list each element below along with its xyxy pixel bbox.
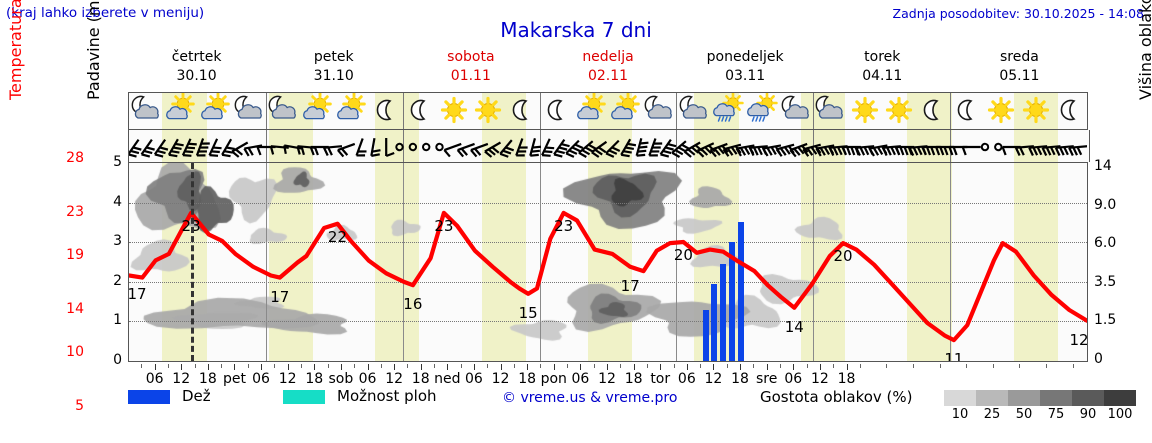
time-tick-minor bbox=[248, 364, 249, 368]
showers-legend-swatch bbox=[283, 390, 325, 404]
moon-cloud-icon bbox=[266, 93, 300, 129]
day-name: petek bbox=[265, 48, 402, 67]
time-tick-minor bbox=[567, 364, 568, 368]
time-tick-minor bbox=[674, 364, 675, 368]
time-tick-minor bbox=[141, 364, 142, 368]
wind-barb bbox=[357, 139, 371, 159]
time-tick bbox=[341, 364, 342, 370]
moon-icon bbox=[1053, 93, 1087, 129]
time-tick-label: 06 bbox=[252, 371, 270, 387]
sun-cloud-icon bbox=[197, 93, 231, 129]
time-tick-minor bbox=[195, 364, 196, 368]
time-tick-minor bbox=[620, 364, 621, 368]
time-tick bbox=[713, 364, 714, 370]
sun-cloud-icon bbox=[300, 93, 334, 129]
day-date: 01.11 bbox=[402, 67, 539, 86]
legend: Dež Možnost ploh © vreme.us & vreme.pro … bbox=[0, 388, 1152, 434]
cloud-density-tick-label: 90 bbox=[1080, 407, 1097, 422]
time-tick-minor bbox=[540, 364, 541, 368]
cloud-density-tick-label: 75 bbox=[1048, 407, 1065, 422]
time-tick bbox=[314, 364, 315, 370]
wind-barb bbox=[606, 141, 624, 159]
cloud-density-step-10 bbox=[944, 390, 976, 406]
time-tick-label: 18 bbox=[625, 371, 643, 387]
time-tick-label: 12 bbox=[705, 371, 723, 387]
day-header-4: nedelja02.11 bbox=[539, 48, 676, 88]
moon-icon bbox=[505, 93, 539, 129]
time-tick bbox=[634, 364, 635, 370]
time-tick bbox=[421, 364, 422, 370]
moon-icon bbox=[916, 93, 950, 129]
moon-icon bbox=[950, 93, 984, 129]
time-tick bbox=[554, 364, 555, 370]
day-date: 04.11 bbox=[814, 67, 951, 86]
weather-icon-row bbox=[128, 92, 1088, 130]
wind-barb bbox=[197, 139, 211, 159]
day-date: 02.11 bbox=[539, 67, 676, 86]
sun-icon bbox=[984, 93, 1018, 129]
wind-barb bbox=[142, 140, 159, 159]
wind-barb-row bbox=[128, 130, 1090, 162]
day-date: 05.11 bbox=[951, 67, 1088, 86]
cloud-density-step-75 bbox=[1040, 390, 1072, 406]
time-tick-minor bbox=[780, 364, 781, 368]
time-tick-minor bbox=[354, 364, 355, 368]
time-tick-minor bbox=[940, 364, 941, 368]
time-tick bbox=[288, 364, 289, 370]
time-tick-label: 12 bbox=[811, 371, 829, 387]
sun-icon bbox=[437, 93, 471, 129]
moon-cloud-icon bbox=[642, 93, 676, 129]
wind-barb bbox=[129, 140, 145, 159]
day-header-1: četrtek30.10 bbox=[128, 48, 265, 88]
wind-barb bbox=[621, 139, 637, 159]
time-tick-label: pon bbox=[541, 371, 567, 387]
time-tick-label: sre bbox=[756, 371, 777, 387]
copyright-link[interactable]: © vreme.us & vreme.pro bbox=[502, 390, 677, 406]
day-date: 03.11 bbox=[677, 67, 814, 86]
time-tick-minor bbox=[487, 364, 488, 368]
sun-cloud-rain-icon bbox=[745, 93, 779, 129]
time-tick-label: ned bbox=[434, 371, 460, 387]
wind-barbs-svg bbox=[129, 130, 1087, 162]
wind-barb bbox=[183, 139, 198, 159]
time-tick bbox=[847, 364, 848, 370]
cloud-density-tick-label: 25 bbox=[984, 407, 1001, 422]
cloud-density-tick-label: 100 bbox=[1108, 407, 1133, 422]
wind-barb bbox=[995, 143, 1002, 150]
page-title: Makarska 7 dni bbox=[0, 18, 1152, 42]
time-tick-minor bbox=[328, 364, 329, 368]
showers-legend-label: Možnost ploh bbox=[337, 387, 437, 405]
time-tick bbox=[660, 364, 661, 370]
time-tick bbox=[155, 364, 156, 370]
wind-barb bbox=[516, 139, 530, 159]
moon-icon bbox=[540, 93, 574, 129]
meteogram: četrtek30.10petek31.10sobota01.11nedelja… bbox=[0, 48, 1152, 388]
time-tick-label: 18 bbox=[412, 371, 430, 387]
time-tick-label: 06 bbox=[571, 371, 589, 387]
time-tick bbox=[447, 364, 448, 370]
wind-barb bbox=[422, 143, 431, 152]
time-tick-minor bbox=[727, 364, 728, 368]
time-tick bbox=[501, 364, 502, 370]
cloud-density-step-25 bbox=[976, 390, 1008, 406]
plot-area: 1723172216231523172014201112 bbox=[128, 162, 1088, 362]
day-name: ponedeljek bbox=[677, 48, 814, 67]
cloud-density-tick-label: 10 bbox=[952, 407, 969, 422]
wind-barb bbox=[386, 138, 394, 156]
time-tick-minor bbox=[886, 364, 887, 368]
wind-barb bbox=[435, 142, 444, 151]
day-name: torek bbox=[814, 48, 951, 67]
day-header-row: četrtek30.10petek31.10sobota01.11nedelja… bbox=[128, 48, 1088, 90]
rain-legend-label: Dež bbox=[182, 387, 211, 405]
day-header-2: petek31.10 bbox=[265, 48, 402, 88]
time-tick-label: 18 bbox=[199, 371, 217, 387]
sun-icon bbox=[882, 93, 916, 129]
day-name: sreda bbox=[951, 48, 1088, 67]
time-tick-minor bbox=[753, 364, 754, 368]
cloud-density-tick-label: 50 bbox=[1016, 407, 1033, 422]
day-date: 30.10 bbox=[128, 67, 265, 86]
time-tick-label: 12 bbox=[279, 371, 297, 387]
time-tick-minor bbox=[514, 364, 515, 368]
wind-barb bbox=[1069, 146, 1087, 156]
time-tick-label: 12 bbox=[598, 371, 616, 387]
moon-cloud-icon bbox=[129, 93, 163, 129]
moon-cloud-icon bbox=[232, 93, 266, 129]
time-tick-minor bbox=[833, 364, 834, 368]
wind-barb bbox=[396, 143, 403, 150]
time-tick-minor bbox=[274, 364, 275, 368]
time-tick-minor bbox=[594, 364, 595, 368]
time-tick bbox=[234, 364, 235, 370]
cloud-density-gradient bbox=[944, 390, 1136, 406]
day-name: sobota bbox=[402, 48, 539, 67]
moon-cloud-icon bbox=[779, 93, 813, 129]
time-tick-minor bbox=[913, 364, 914, 368]
moon-icon bbox=[403, 93, 437, 129]
cloud-density-step-90 bbox=[1072, 390, 1104, 406]
time-tick-minor bbox=[301, 364, 302, 368]
time-tick-minor bbox=[461, 364, 462, 368]
time-tick-minor bbox=[807, 364, 808, 368]
day-header-3: sobota01.11 bbox=[402, 48, 539, 88]
moon-cloud-icon bbox=[813, 93, 847, 129]
time-tick-minor bbox=[434, 364, 435, 368]
time-tick-minor bbox=[168, 364, 169, 368]
wind-barb bbox=[530, 138, 542, 157]
time-tick-label: 18 bbox=[731, 371, 749, 387]
sun-icon bbox=[1019, 93, 1053, 129]
moon-icon bbox=[369, 93, 403, 129]
time-tick-minor bbox=[860, 364, 861, 368]
sun-icon bbox=[848, 93, 882, 129]
sun-cloud-icon bbox=[574, 93, 608, 129]
wind-barb bbox=[371, 138, 382, 157]
sun-icon bbox=[471, 93, 505, 129]
time-tick-minor bbox=[1019, 364, 1020, 368]
day-header-6: torek04.11 bbox=[814, 48, 951, 88]
day-date: 31.10 bbox=[265, 67, 402, 86]
time-tick-label: 18 bbox=[305, 371, 323, 387]
day-name: nedelja bbox=[539, 48, 676, 67]
time-tick-minor bbox=[993, 364, 994, 368]
sun-cloud-icon bbox=[334, 93, 368, 129]
time-tick-label: pet bbox=[223, 371, 246, 387]
time-tick bbox=[394, 364, 395, 370]
time-tick-minor bbox=[1073, 364, 1074, 368]
moon-cloud-icon bbox=[676, 93, 710, 129]
time-tick-label: 06 bbox=[465, 371, 483, 387]
rain-legend-swatch bbox=[128, 390, 170, 404]
wind-barb bbox=[500, 140, 518, 159]
time-tick-minor bbox=[407, 364, 408, 368]
time-tick bbox=[368, 364, 369, 370]
time-tick bbox=[793, 364, 794, 370]
now-line bbox=[191, 163, 194, 361]
time-tick-minor bbox=[221, 364, 222, 368]
day-header-7: sreda05.11 bbox=[951, 48, 1088, 88]
time-tick bbox=[474, 364, 475, 370]
time-axis: 061218pet061218sob061218ned061218pon0612… bbox=[128, 364, 1088, 390]
time-tick-label: sob bbox=[329, 371, 354, 387]
time-tick-label: 12 bbox=[492, 371, 510, 387]
time-tick bbox=[607, 364, 608, 370]
cloud-density-tick-labels: 1025507590100 bbox=[944, 407, 1144, 423]
time-tick-label: 06 bbox=[678, 371, 696, 387]
wind-barb bbox=[554, 140, 571, 159]
time-tick bbox=[820, 364, 821, 370]
time-tick-label: 18 bbox=[518, 371, 536, 387]
cloud-density-step-100 bbox=[1104, 390, 1136, 406]
time-tick bbox=[261, 364, 262, 370]
time-tick-label: 12 bbox=[385, 371, 403, 387]
time-tick-label: 06 bbox=[784, 371, 802, 387]
sun-cloud-icon bbox=[163, 93, 197, 129]
time-tick-label: 06 bbox=[146, 371, 164, 387]
time-tick-minor bbox=[1046, 364, 1047, 368]
current-time-marker bbox=[129, 163, 1087, 361]
wind-barb bbox=[963, 147, 981, 155]
cloud-density-legend-title: Gostota oblakov (%) bbox=[760, 388, 913, 406]
sun-cloud-icon bbox=[608, 93, 642, 129]
time-tick bbox=[208, 364, 209, 370]
time-tick-label: 06 bbox=[359, 371, 377, 387]
time-tick bbox=[580, 364, 581, 370]
time-tick bbox=[740, 364, 741, 370]
sun-cloud-rain-icon bbox=[711, 93, 745, 129]
time-tick-minor bbox=[700, 364, 701, 368]
time-tick bbox=[687, 364, 688, 370]
day-name: četrtek bbox=[128, 48, 265, 67]
wind-barb bbox=[637, 138, 649, 157]
time-tick-minor bbox=[966, 364, 967, 368]
time-tick bbox=[527, 364, 528, 370]
time-tick-minor bbox=[381, 364, 382, 368]
wind-barb bbox=[155, 140, 172, 159]
time-tick-label: 12 bbox=[172, 371, 190, 387]
time-tick-label: 18 bbox=[838, 371, 856, 387]
wind-barb bbox=[982, 144, 989, 151]
day-header-5: ponedeljek03.11 bbox=[677, 48, 814, 88]
time-tick-minor bbox=[647, 364, 648, 368]
wind-barb bbox=[169, 139, 185, 159]
time-tick-label: tor bbox=[650, 371, 670, 387]
time-tick bbox=[767, 364, 768, 370]
wind-barb bbox=[409, 143, 417, 151]
time-tick bbox=[181, 364, 182, 370]
cloud-density-step-50 bbox=[1008, 390, 1040, 406]
